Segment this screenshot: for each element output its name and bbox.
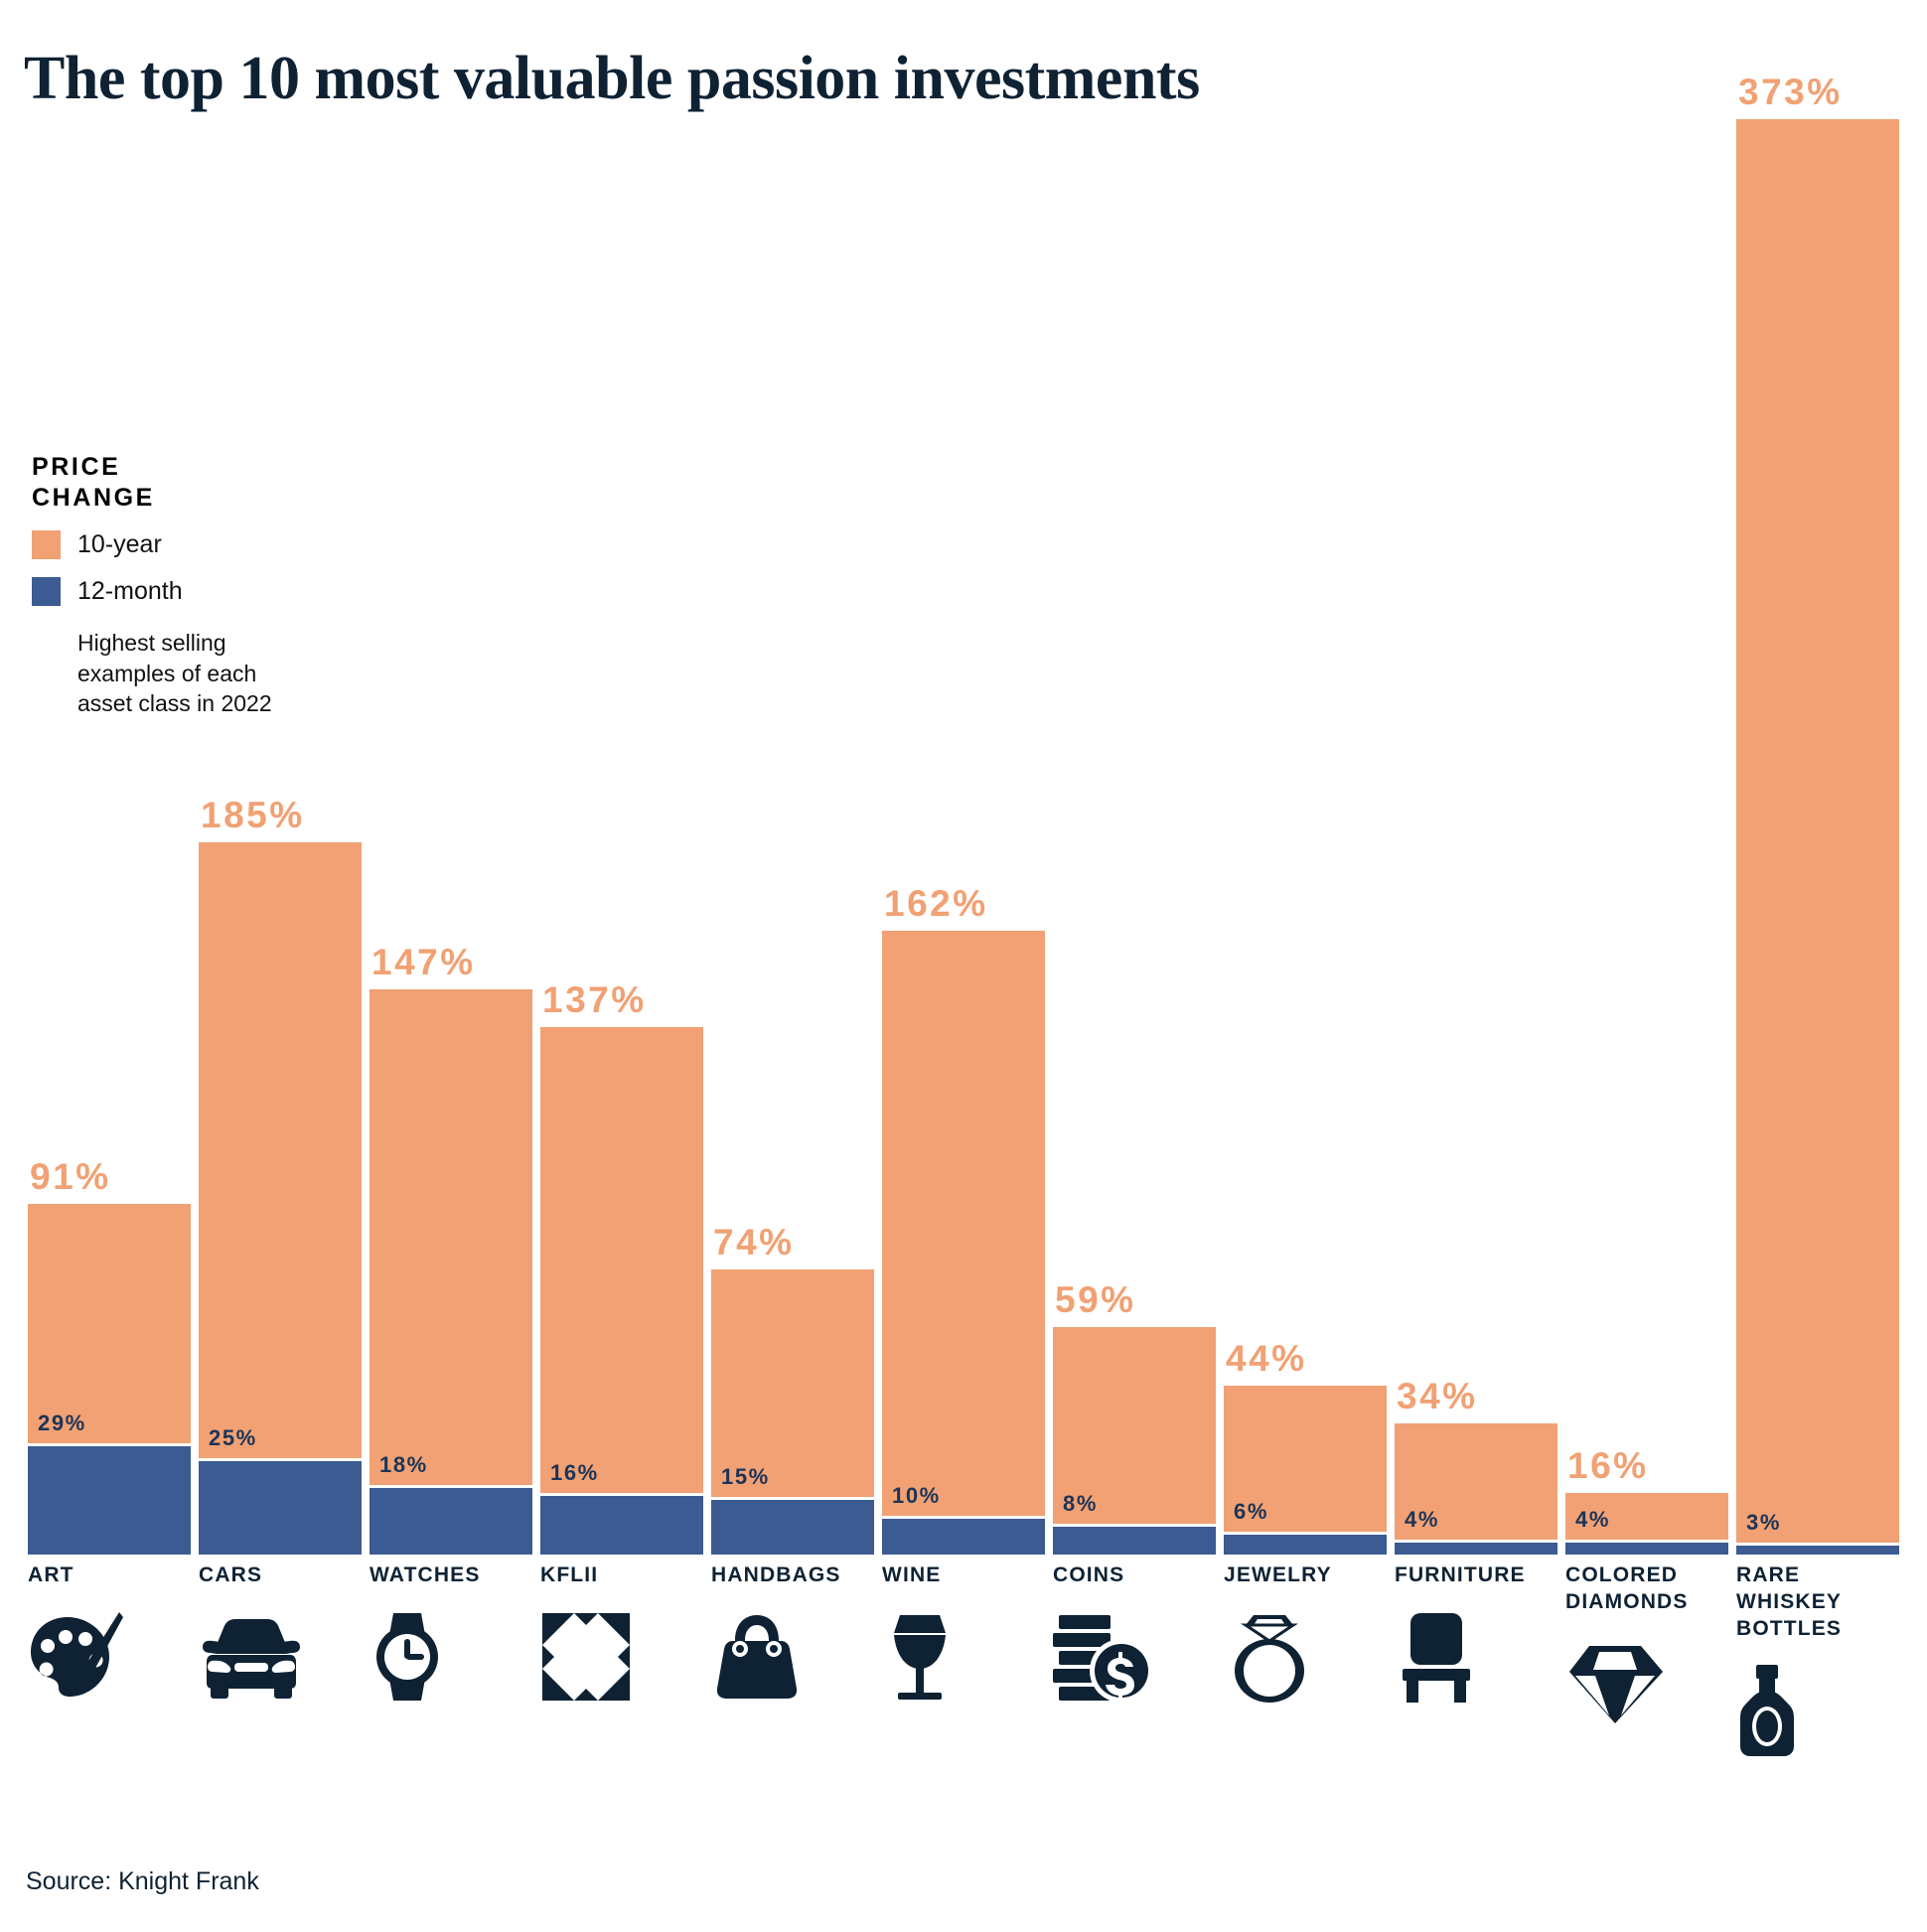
axis-item-coins: COINS	[1053, 1562, 1216, 1703]
bar-stack: 91%29%	[28, 1204, 191, 1555]
axis-label: KFLII	[540, 1562, 703, 1589]
palette-paintbrush-icon	[28, 1611, 191, 1703]
axis-item-handbags: HANDBAGS	[711, 1562, 874, 1703]
wristwatch-icon	[370, 1611, 532, 1703]
axis-item-wine: WINE	[882, 1562, 1045, 1703]
axis-item-art: ART	[28, 1562, 191, 1703]
bar-column-rare-whiskey-bottles[interactable]: 373%3%	[1736, 119, 1899, 1555]
bar-value-label-10-year: 373%	[1738, 72, 1843, 113]
bar-segment-10-year[interactable]: 74%15%	[711, 1269, 874, 1497]
axis-label: HANDBAGS	[711, 1562, 874, 1589]
bar-stack: 34%4%	[1395, 1423, 1557, 1555]
bar-column-handbags[interactable]: 74%15%	[711, 119, 874, 1555]
bar-value-label-10-year: 16%	[1567, 1445, 1649, 1487]
axis-label: FURNITURE	[1395, 1562, 1557, 1589]
bar-segment-12-month[interactable]	[199, 1458, 362, 1555]
source-caption: Source: Knight Frank	[26, 1867, 259, 1896]
axis-label: CARS	[199, 1562, 362, 1589]
bar-value-label-10-year: 59%	[1055, 1279, 1136, 1321]
bar-segment-12-month[interactable]	[1224, 1532, 1387, 1555]
bar-column-art[interactable]: 91%29%	[28, 119, 191, 1555]
bar-segment-10-year[interactable]: 373%3%	[1736, 119, 1899, 1543]
bar-segment-10-year[interactable]: 44%6%	[1224, 1386, 1387, 1532]
bar-segment-10-year[interactable]: 162%10%	[882, 931, 1045, 1516]
bar-value-label-12-month: 6%	[1234, 1499, 1268, 1525]
bar-value-label-10-year: 74%	[713, 1222, 795, 1263]
handbag-icon	[711, 1611, 874, 1703]
axis-item-cars: CARS	[199, 1562, 362, 1703]
axis-label: WINE	[882, 1562, 1045, 1589]
bar-value-label-12-month: 18%	[379, 1452, 428, 1478]
bar-segment-10-year[interactable]: 137%16%	[540, 1027, 703, 1493]
diamond-gem-icon	[1565, 1638, 1728, 1729]
bar-value-label-12-month: 4%	[1405, 1507, 1439, 1533]
axis-item-jewelry: JEWELRY	[1224, 1562, 1387, 1703]
chair-icon	[1395, 1611, 1557, 1703]
bar-segment-12-month[interactable]	[711, 1497, 874, 1555]
bar-value-label-12-month: 25%	[209, 1425, 257, 1451]
bar-segment-10-year[interactable]: 91%29%	[28, 1204, 191, 1442]
bar-stack: 74%15%	[711, 1269, 874, 1555]
bar-value-label-12-month: 10%	[892, 1483, 941, 1509]
axis-label: WATCHES	[370, 1562, 532, 1589]
bar-stack: 16%4%	[1565, 1493, 1728, 1555]
bar-column-watches[interactable]: 147%18%	[370, 119, 532, 1555]
bar-segment-10-year[interactable]: 185%25%	[199, 842, 362, 1458]
bar-column-furniture[interactable]: 34%4%	[1395, 119, 1557, 1555]
diamond-ring-icon	[1224, 1611, 1387, 1703]
bar-segment-12-month[interactable]	[882, 1516, 1045, 1555]
bar-segment-10-year[interactable]: 147%18%	[370, 989, 532, 1486]
bar-value-label-12-month: 16%	[550, 1460, 599, 1486]
bar-value-label-12-month: 29%	[38, 1411, 86, 1436]
coin-stack-dollar-icon	[1053, 1611, 1216, 1703]
bar-segment-10-year[interactable]: 34%4%	[1395, 1423, 1557, 1539]
bar-stack: 147%18%	[370, 989, 532, 1555]
bar-segment-12-month[interactable]	[28, 1443, 191, 1555]
axis-item-watches: WATCHES	[370, 1562, 532, 1703]
bar-segment-10-year[interactable]: 16%4%	[1565, 1493, 1728, 1539]
axis-item-colored-diamonds: COLORED DIAMONDS	[1565, 1562, 1728, 1729]
bar-segment-12-month[interactable]	[1736, 1543, 1899, 1555]
whiskey-bottle-icon	[1736, 1665, 1899, 1756]
bar-segment-12-month[interactable]	[540, 1493, 703, 1555]
axis-label: JEWELRY	[1224, 1562, 1387, 1589]
axis-item-kflii: KFLII	[540, 1562, 703, 1703]
axis-item-rare-whiskey-bottles: RARE WHISKEY BOTTLES	[1736, 1562, 1899, 1756]
bar-stack: 44%6%	[1224, 1386, 1387, 1555]
bar-value-label-10-year: 185%	[201, 795, 305, 836]
axis-label: RARE WHISKEY BOTTLES	[1736, 1562, 1899, 1643]
bar-segment-12-month[interactable]	[1053, 1524, 1216, 1555]
bar-stack: 185%25%	[199, 842, 362, 1555]
bar-column-wine[interactable]: 162%10%	[882, 119, 1045, 1555]
axis-item-furniture: FURNITURE	[1395, 1562, 1557, 1703]
bar-value-label-12-month: 8%	[1063, 1491, 1098, 1517]
bar-value-label-12-month: 4%	[1575, 1507, 1610, 1533]
bar-column-jewelry[interactable]: 44%6%	[1224, 119, 1387, 1555]
bar-segment-10-year[interactable]: 59%8%	[1053, 1327, 1216, 1524]
bar-value-label-10-year: 147%	[371, 942, 476, 983]
bar-chart-plot-area: 91%29%185%25%147%18%137%16%74%15%162%10%…	[28, 119, 1899, 1555]
axis-label: ART	[28, 1562, 191, 1589]
bar-value-label-10-year: 91%	[30, 1156, 111, 1198]
car-icon	[199, 1611, 362, 1703]
wine-glass-icon	[882, 1611, 1045, 1703]
bar-stack: 162%10%	[882, 931, 1045, 1555]
bar-value-label-10-year: 137%	[542, 979, 647, 1021]
axis-label: COLORED DIAMONDS	[1565, 1562, 1728, 1616]
bar-column-kflii[interactable]: 137%16%	[540, 119, 703, 1555]
bar-value-label-12-month: 15%	[721, 1464, 770, 1490]
bar-value-label-10-year: 162%	[884, 883, 988, 925]
category-axis: ART CARS WATCHES KFLII	[28, 1562, 1899, 1801]
four-point-star-icon	[540, 1611, 703, 1703]
bar-column-cars[interactable]: 185%25%	[199, 119, 362, 1555]
bar-value-label-12-month: 3%	[1746, 1510, 1781, 1536]
axis-label: COINS	[1053, 1562, 1216, 1589]
bar-segment-12-month[interactable]	[1395, 1540, 1557, 1555]
bar-stack: 59%8%	[1053, 1327, 1216, 1555]
bar-segment-12-month[interactable]	[1565, 1540, 1728, 1555]
bar-value-label-10-year: 44%	[1226, 1338, 1307, 1380]
bar-stack: 373%3%	[1736, 119, 1899, 1555]
bar-segment-12-month[interactable]	[370, 1485, 532, 1555]
bar-stack: 137%16%	[540, 1027, 703, 1555]
bar-column-coins[interactable]: 59%8%	[1053, 119, 1216, 1555]
bar-value-label-10-year: 34%	[1397, 1376, 1478, 1417]
bar-column-colored-diamonds[interactable]: 16%4%	[1565, 119, 1728, 1555]
page-title: The top 10 most valuable passion investm…	[24, 44, 1200, 114]
